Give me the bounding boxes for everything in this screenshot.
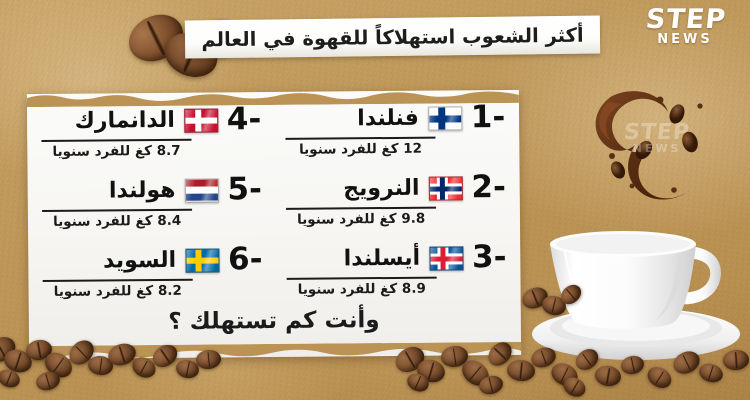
ranking-entry: 1- فنلندا 12 كغ للفرد سنويا [277,94,514,166]
entry-divider [42,209,192,212]
norway-flag [428,176,462,200]
closing-question: وأنت كم تستهلك ؟ [34,306,514,336]
consumption-amount: 8.7 كغ للفرد سنويا [41,143,191,160]
coffee-consumption-ranking: 1- فنلندا 12 كغ للفرد سنويا 4- الدانمارك… [33,94,515,308]
ranking-entry: 6- السويد 8.2 كغ للفرد سنويا [34,236,271,308]
finland-flag [428,106,462,130]
consumption-amount: 12 كغ للفرد سنويا [285,141,435,158]
entry-divider [286,207,436,210]
country-name: فنلندا [357,106,419,132]
netherlands-flag [184,178,218,202]
ranking-entry: 3- أيسلندا 8.9 كغ للفرد سنويا [278,234,515,306]
entry-header: 3- أيسلندا [286,242,506,275]
entry-header: 6- السويد [42,244,262,277]
step-news-logo: STEP NEWS [630,6,742,56]
entry-divider [285,137,435,140]
page-title: أكثر الشعوب استهلاكاً للقهوة في العالم [185,15,600,58]
sweden-flag [185,248,219,272]
ranking-entry: 4- الدانمارك 8.7 كغ للفرد سنويا [33,96,270,168]
consumption-amount: 9.8 كغ للفرد سنويا [286,211,436,228]
rank-number: 4- [227,104,262,135]
denmark-flag [184,108,218,132]
rank-number: 6- [228,244,263,275]
country-name: هولندا [109,178,176,204]
country-name: أيسلندا [344,246,421,272]
consumption-amount: 8.4 كغ للفرد سنويا [42,213,192,230]
consumption-amount: 8.9 كغ للفرد سنويا [287,281,437,298]
entry-divider [287,277,437,280]
coffee-splash-illustration [582,78,732,213]
country-name: السويد [103,248,176,274]
rank-number: 5- [227,174,262,205]
ranking-entry: 2- النرويج 9.8 كغ للفرد سنويا [278,164,515,236]
title-banner: أكثر الشعوب استهلاكاً للقهوة في العالم [185,15,600,58]
entry-header: 4- الدانمارك [41,104,261,137]
rank-number: 3- [472,242,507,273]
entry-header: 1- فنلندا [285,102,505,135]
coffee-cup-illustration [528,206,750,366]
entry-divider [41,139,191,142]
rank-number: 1- [471,102,506,133]
entry-divider [43,279,193,282]
rank-number: 2- [471,172,506,203]
logo-step-text: STEP [629,6,744,33]
iceland-flag [429,246,463,270]
ranking-entry: 5- هولندا 8.4 كغ للفرد سنويا [34,166,271,238]
consumption-amount: 8.2 كغ للفرد سنويا [43,283,193,300]
entry-header: 5- هولندا [42,174,262,207]
infographic-canvas: STEP NEWS STEP NEWS أكثر الشعوب استهلاكا… [0,0,750,400]
country-name: النرويج [343,176,419,202]
entry-header: 2- النرويج [286,172,506,205]
country-name: الدانمارك [75,108,175,134]
